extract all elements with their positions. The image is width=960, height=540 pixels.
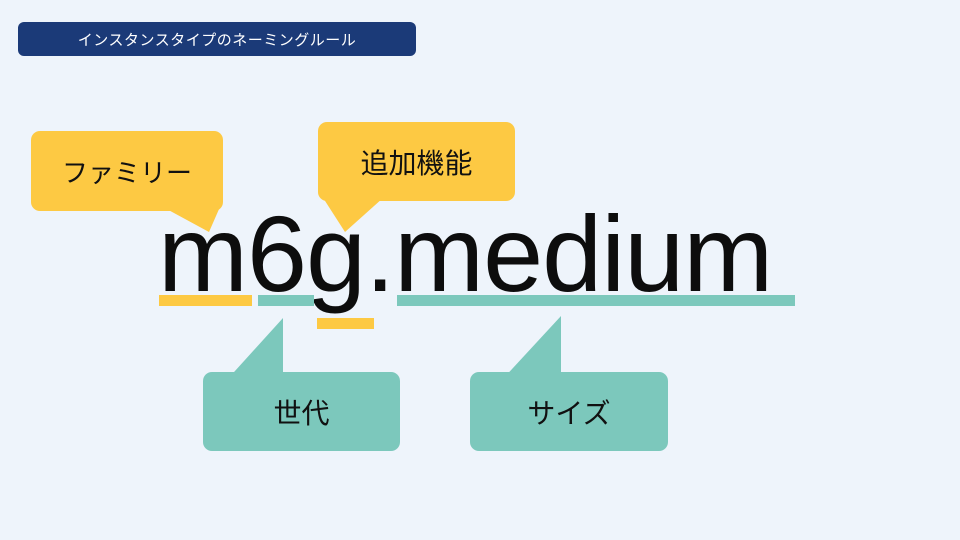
slide-title-banner: インスタンスタイプのネーミングルール	[18, 22, 416, 56]
underline-generation	[258, 295, 314, 306]
callout-extra-feature: 追加機能	[318, 122, 515, 201]
callout-generation: 世代	[203, 372, 400, 451]
slide-title-text: インスタンスタイプのネーミングルール	[78, 29, 356, 50]
callout-size-label: サイズ	[527, 392, 610, 432]
underline-size	[397, 295, 795, 306]
underline-extra-feature	[317, 318, 374, 329]
callout-family-label: ファミリー	[62, 153, 192, 190]
instance-type-text: m6g.medium	[158, 200, 772, 308]
callout-family: ファミリー	[31, 131, 223, 211]
callout-size: サイズ	[470, 372, 668, 451]
callout-extra-feature-label: 追加機能	[360, 142, 472, 182]
callout-generation-label: 世代	[273, 392, 329, 432]
slide-canvas: インスタンスタイプのネーミングルール m6g.medium ファミリー 追加機能…	[0, 0, 960, 540]
underline-family	[159, 295, 252, 306]
